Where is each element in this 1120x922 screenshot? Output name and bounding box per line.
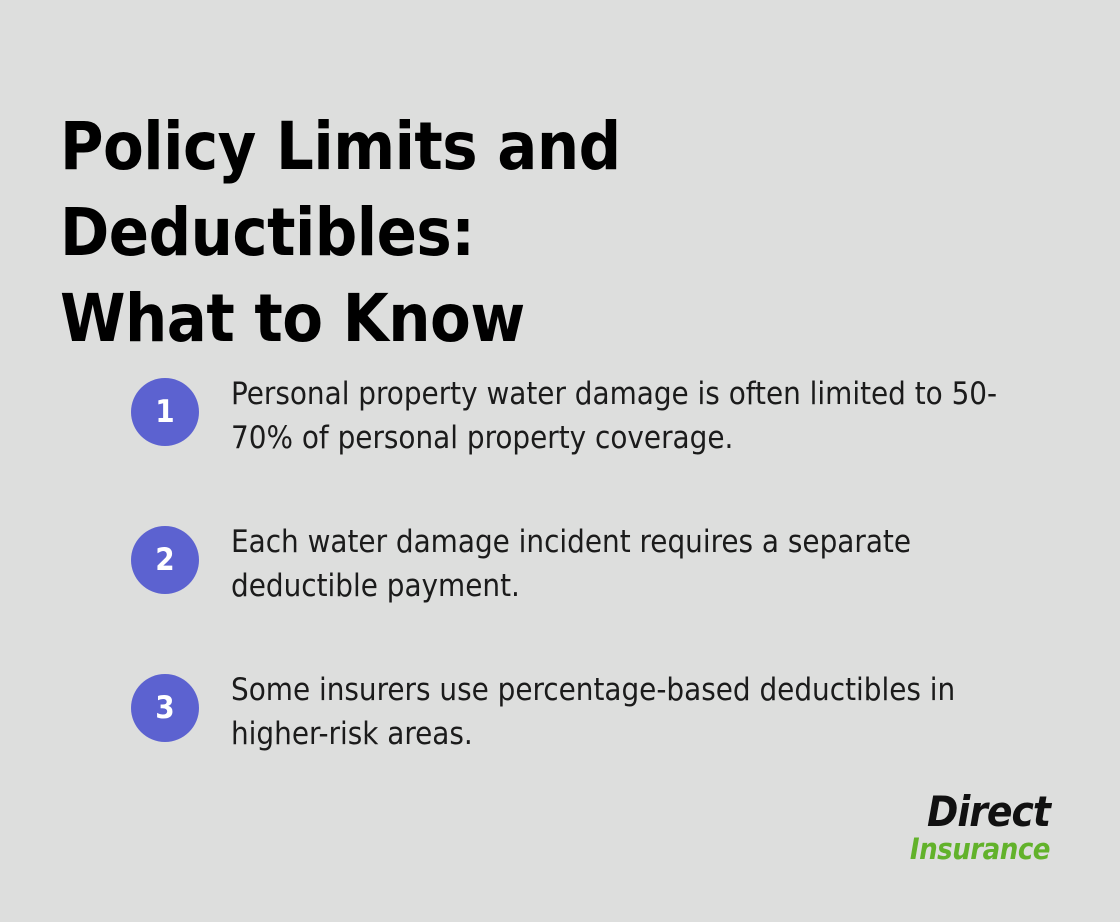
list-item-number-badge: 1 xyxy=(131,378,199,446)
brand-name-secondary: Insurance xyxy=(910,835,1050,864)
slide-canvas: Policy Limits and Deductibles: What to K… xyxy=(0,0,1120,922)
brand-name-primary: Direct xyxy=(910,791,1050,833)
list-item-text: Personal property water damage is often … xyxy=(231,372,1049,460)
title-block: Policy Limits and Deductibles: What to K… xyxy=(60,104,1050,362)
list-item-text: Some insurers use percentage-based deduc… xyxy=(231,668,1049,756)
page-title: Policy Limits and Deductibles: What to K… xyxy=(60,104,1050,362)
list-item: 3 Some insurers use percentage-based ded… xyxy=(131,668,1061,756)
numbered-points-list: 1 Personal property water damage is ofte… xyxy=(131,372,1061,756)
list-item-number-badge: 3 xyxy=(131,674,199,742)
list-item: 1 Personal property water damage is ofte… xyxy=(131,372,1061,460)
list-item-text: Each water damage incident requires a se… xyxy=(231,520,1049,608)
brand-logo: Direct Insurance xyxy=(910,791,1050,864)
list-item: 2 Each water damage incident requires a … xyxy=(131,520,1061,608)
list-item-number-badge: 2 xyxy=(131,526,199,594)
